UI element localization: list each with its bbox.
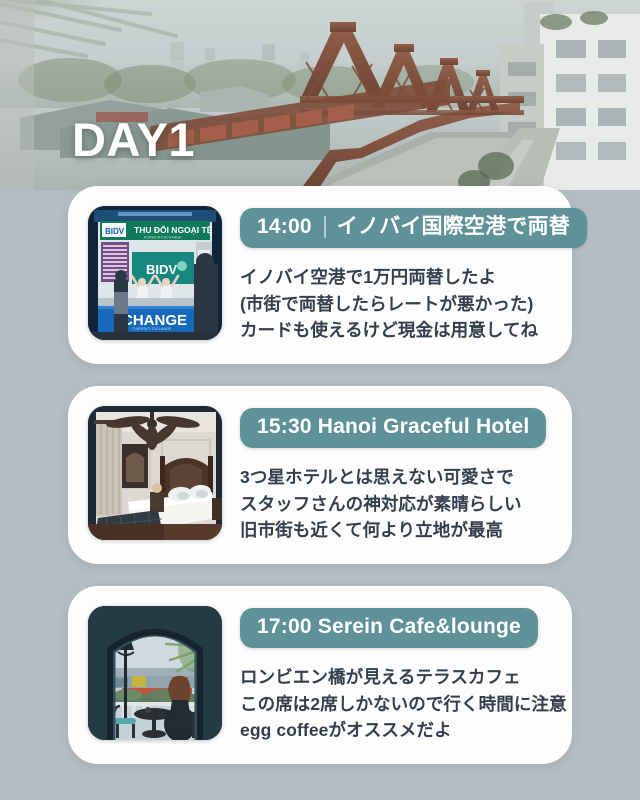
- card-description: 3つ星ホテルとは思えない可愛さで スタッフさんの神対応が素晴らしい 旧市街も近く…: [240, 464, 552, 544]
- card-description: イノバイ空港で1万円両替したよ (市街で両替したらレートが悪かった) カードも使…: [240, 264, 552, 344]
- card-content: 15:30 Hanoi Graceful Hotel 3つ星ホテルとは思えない可…: [240, 406, 552, 544]
- itinerary-card[interactable]: BIDV THU ĐỔI NGOẠI TỆ FOREIGN EXCHANGE: [68, 186, 572, 364]
- svg-text:CURRENCY EXCHANGE: CURRENCY EXCHANGE: [132, 327, 172, 331]
- itinerary-card[interactable]: 15:30 Hanoi Graceful Hotel 3つ星ホテルとは思えない可…: [68, 386, 572, 564]
- svg-text:THU ĐỔI NGOẠI TỆ: THU ĐỔI NGOẠI TỆ: [134, 224, 213, 235]
- card-title: イノバイ国際空港で両替: [337, 215, 570, 239]
- description-line: egg coffeeがオススメだよ: [240, 717, 552, 744]
- page-title: DAY1: [72, 116, 195, 163]
- card-content: 17:00 Serein Cafe&lounge ロンビエン橋が見えるテラスカフ…: [240, 606, 552, 744]
- description-line: (市街で両替したらレートが悪かった): [240, 291, 552, 318]
- hero-banner: DAY1: [0, 0, 640, 190]
- svg-text:FOREIGN EXCHANGE: FOREIGN EXCHANGE: [144, 236, 182, 240]
- description-line: この席は2席しかないので行く時間に注意: [240, 691, 552, 718]
- description-line: ロンビエン橋が見えるテラスカフェ: [240, 664, 552, 691]
- card-content: 14:00 イノバイ国際空港で両替 イノバイ空港で1万円両替したよ (市街で両替…: [240, 206, 552, 344]
- card-time: 17:00: [257, 615, 312, 639]
- description-line: スタッフさんの神対応が素晴らしい: [240, 491, 552, 518]
- bidv-exchange-counter-photo: BIDV THU ĐỔI NGOẠI TỆ FOREIGN EXCHANGE: [88, 206, 222, 340]
- card-time: 15:30: [257, 415, 312, 439]
- itinerary-card[interactable]: 17:00 Serein Cafe&lounge ロンビエン橋が見えるテラスカフ…: [68, 586, 572, 764]
- card-time: 14:00: [257, 215, 312, 239]
- card-thumbnail-terrace-cafe[interactable]: [88, 606, 222, 740]
- description-line: カードも使えるけど現金は用意してね: [240, 317, 552, 344]
- card-badge: 15:30 Hanoi Graceful Hotel: [240, 408, 546, 448]
- card-thumbnail-currency-exchange[interactable]: BIDV THU ĐỔI NGOẠI TỆ FOREIGN EXCHANGE: [88, 206, 222, 340]
- card-title: Hanoi Graceful Hotel: [318, 415, 530, 439]
- description-line: 3つ星ホテルとは思えない可愛さで: [240, 464, 552, 491]
- itinerary-card-list: BIDV THU ĐỔI NGOẠI TỆ FOREIGN EXCHANGE: [68, 186, 572, 764]
- card-badge: 14:00 イノバイ国際空港で両替: [240, 208, 587, 248]
- card-title: Serein Cafe&lounge: [318, 615, 521, 639]
- badge-divider-icon: [324, 216, 326, 238]
- card-thumbnail-hotel-room[interactable]: [88, 406, 222, 540]
- card-badge: 17:00 Serein Cafe&lounge: [240, 608, 538, 648]
- svg-text:BIDV: BIDV: [146, 262, 177, 277]
- hotel-room-photo: [88, 406, 222, 540]
- svg-text:BIDV: BIDV: [105, 227, 125, 236]
- description-line: 旧市街も近くて何より立地が最高: [240, 517, 552, 544]
- description-line: イノバイ空港で1万円両替したよ: [240, 264, 552, 291]
- card-description: ロンビエン橋が見えるテラスカフェ この席は2席しかないので行く時間に注意 egg…: [240, 664, 552, 744]
- terrace-cafe-photo: [88, 606, 222, 740]
